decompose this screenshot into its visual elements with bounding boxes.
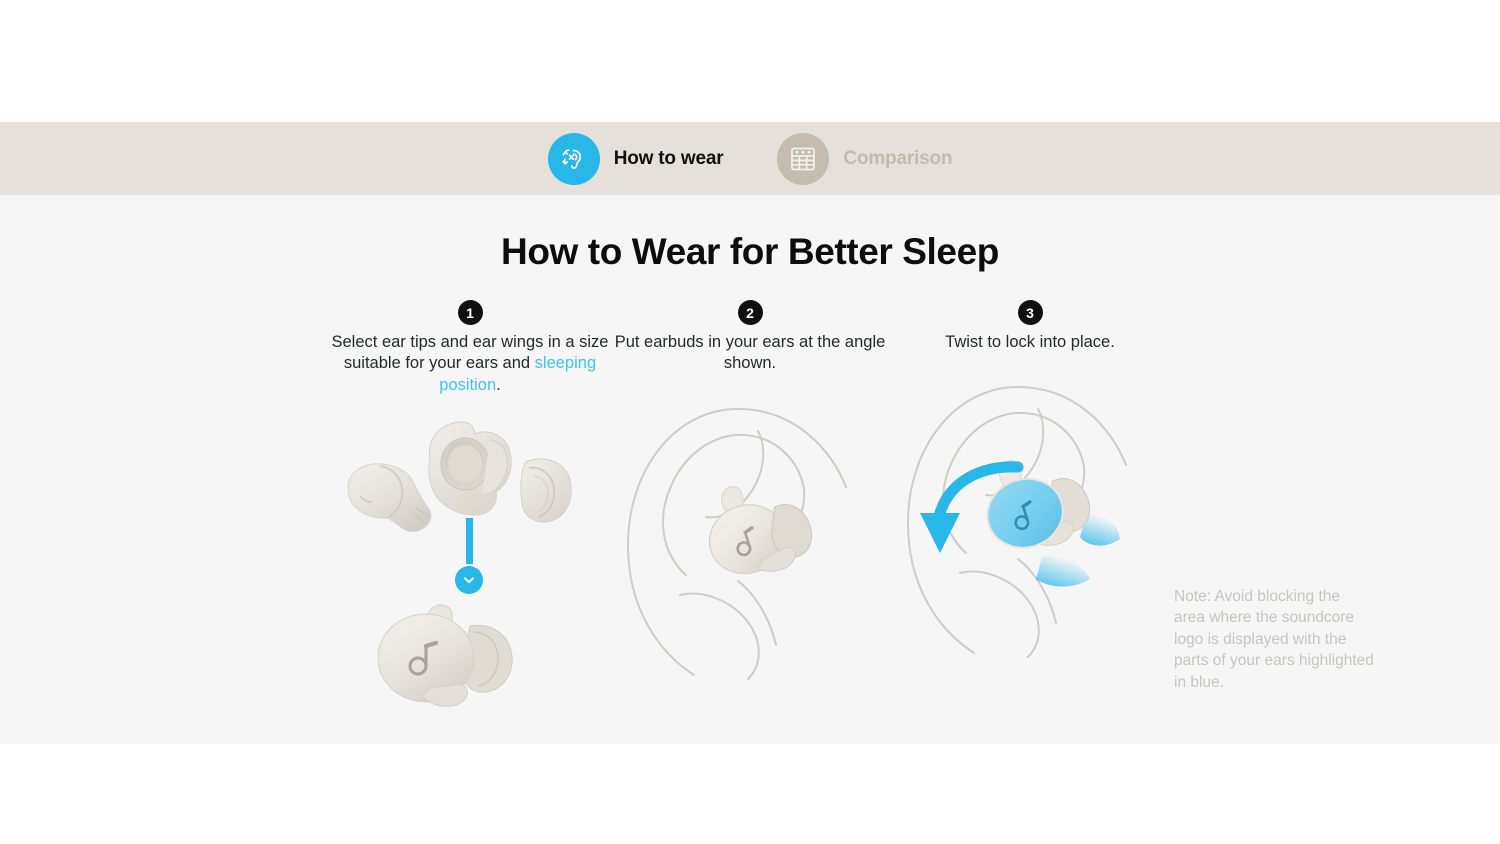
step-2-text: Put earbuds in your ears at the angle sh… [610,332,890,375]
blue-highlight-lower [1036,556,1090,586]
ear-tip-piece [521,459,571,522]
assembled-earbud-svg [330,596,610,726]
step-3: 3 Twist to lock into place. [890,300,1170,710]
step-2-artwork-ear-with-earbud [610,389,890,689]
note-text: Note: Avoid blocking the area where the … [1174,586,1374,693]
step-2: 2 Put earbuds in your ears at the angle … [610,300,890,710]
ear-outline-svg-3 [890,367,1170,667]
step-1-artwork-exploded-earbud [330,410,610,710]
page-title: How to Wear for Better Sleep [0,231,1500,273]
step-1-text-after-link: . [496,376,501,394]
ear-with-arrows-icon [548,133,600,185]
step-3-badge: 3 [1018,300,1043,325]
inserted-earbud-blue [972,442,1098,563]
tab-bar: How to wear Comparison [0,122,1500,195]
step-2-badge: 2 [738,300,763,325]
earbud-wing-piece [429,422,511,515]
top-whitespace [0,0,1500,122]
chevron-down-icon[interactable] [455,566,483,594]
assembly-dotted-line [466,518,473,564]
earbud-body-piece [348,464,431,532]
step-3-artwork-ear-with-twist-arrow [890,367,1170,667]
inserted-earbud [694,467,820,588]
tab-how-to-wear[interactable]: How to wear [548,133,724,185]
comparison-table-icon [777,133,829,185]
tab-comparison[interactable]: Comparison [777,133,952,185]
step-3-text: Twist to lock into place. [890,332,1170,353]
ear-outline-svg-2 [610,389,890,689]
steps-container: 1 Select ear tips and ear wings in a siz… [330,300,1170,710]
step-1-badge: 1 [458,300,483,325]
tab-label-comparison: Comparison [843,148,952,170]
tab-label-how-to-wear: How to wear [614,148,724,170]
step-1-text: Select ear tips and ear wings in a size … [330,332,610,396]
step-1: 1 Select ear tips and ear wings in a siz… [330,300,610,710]
